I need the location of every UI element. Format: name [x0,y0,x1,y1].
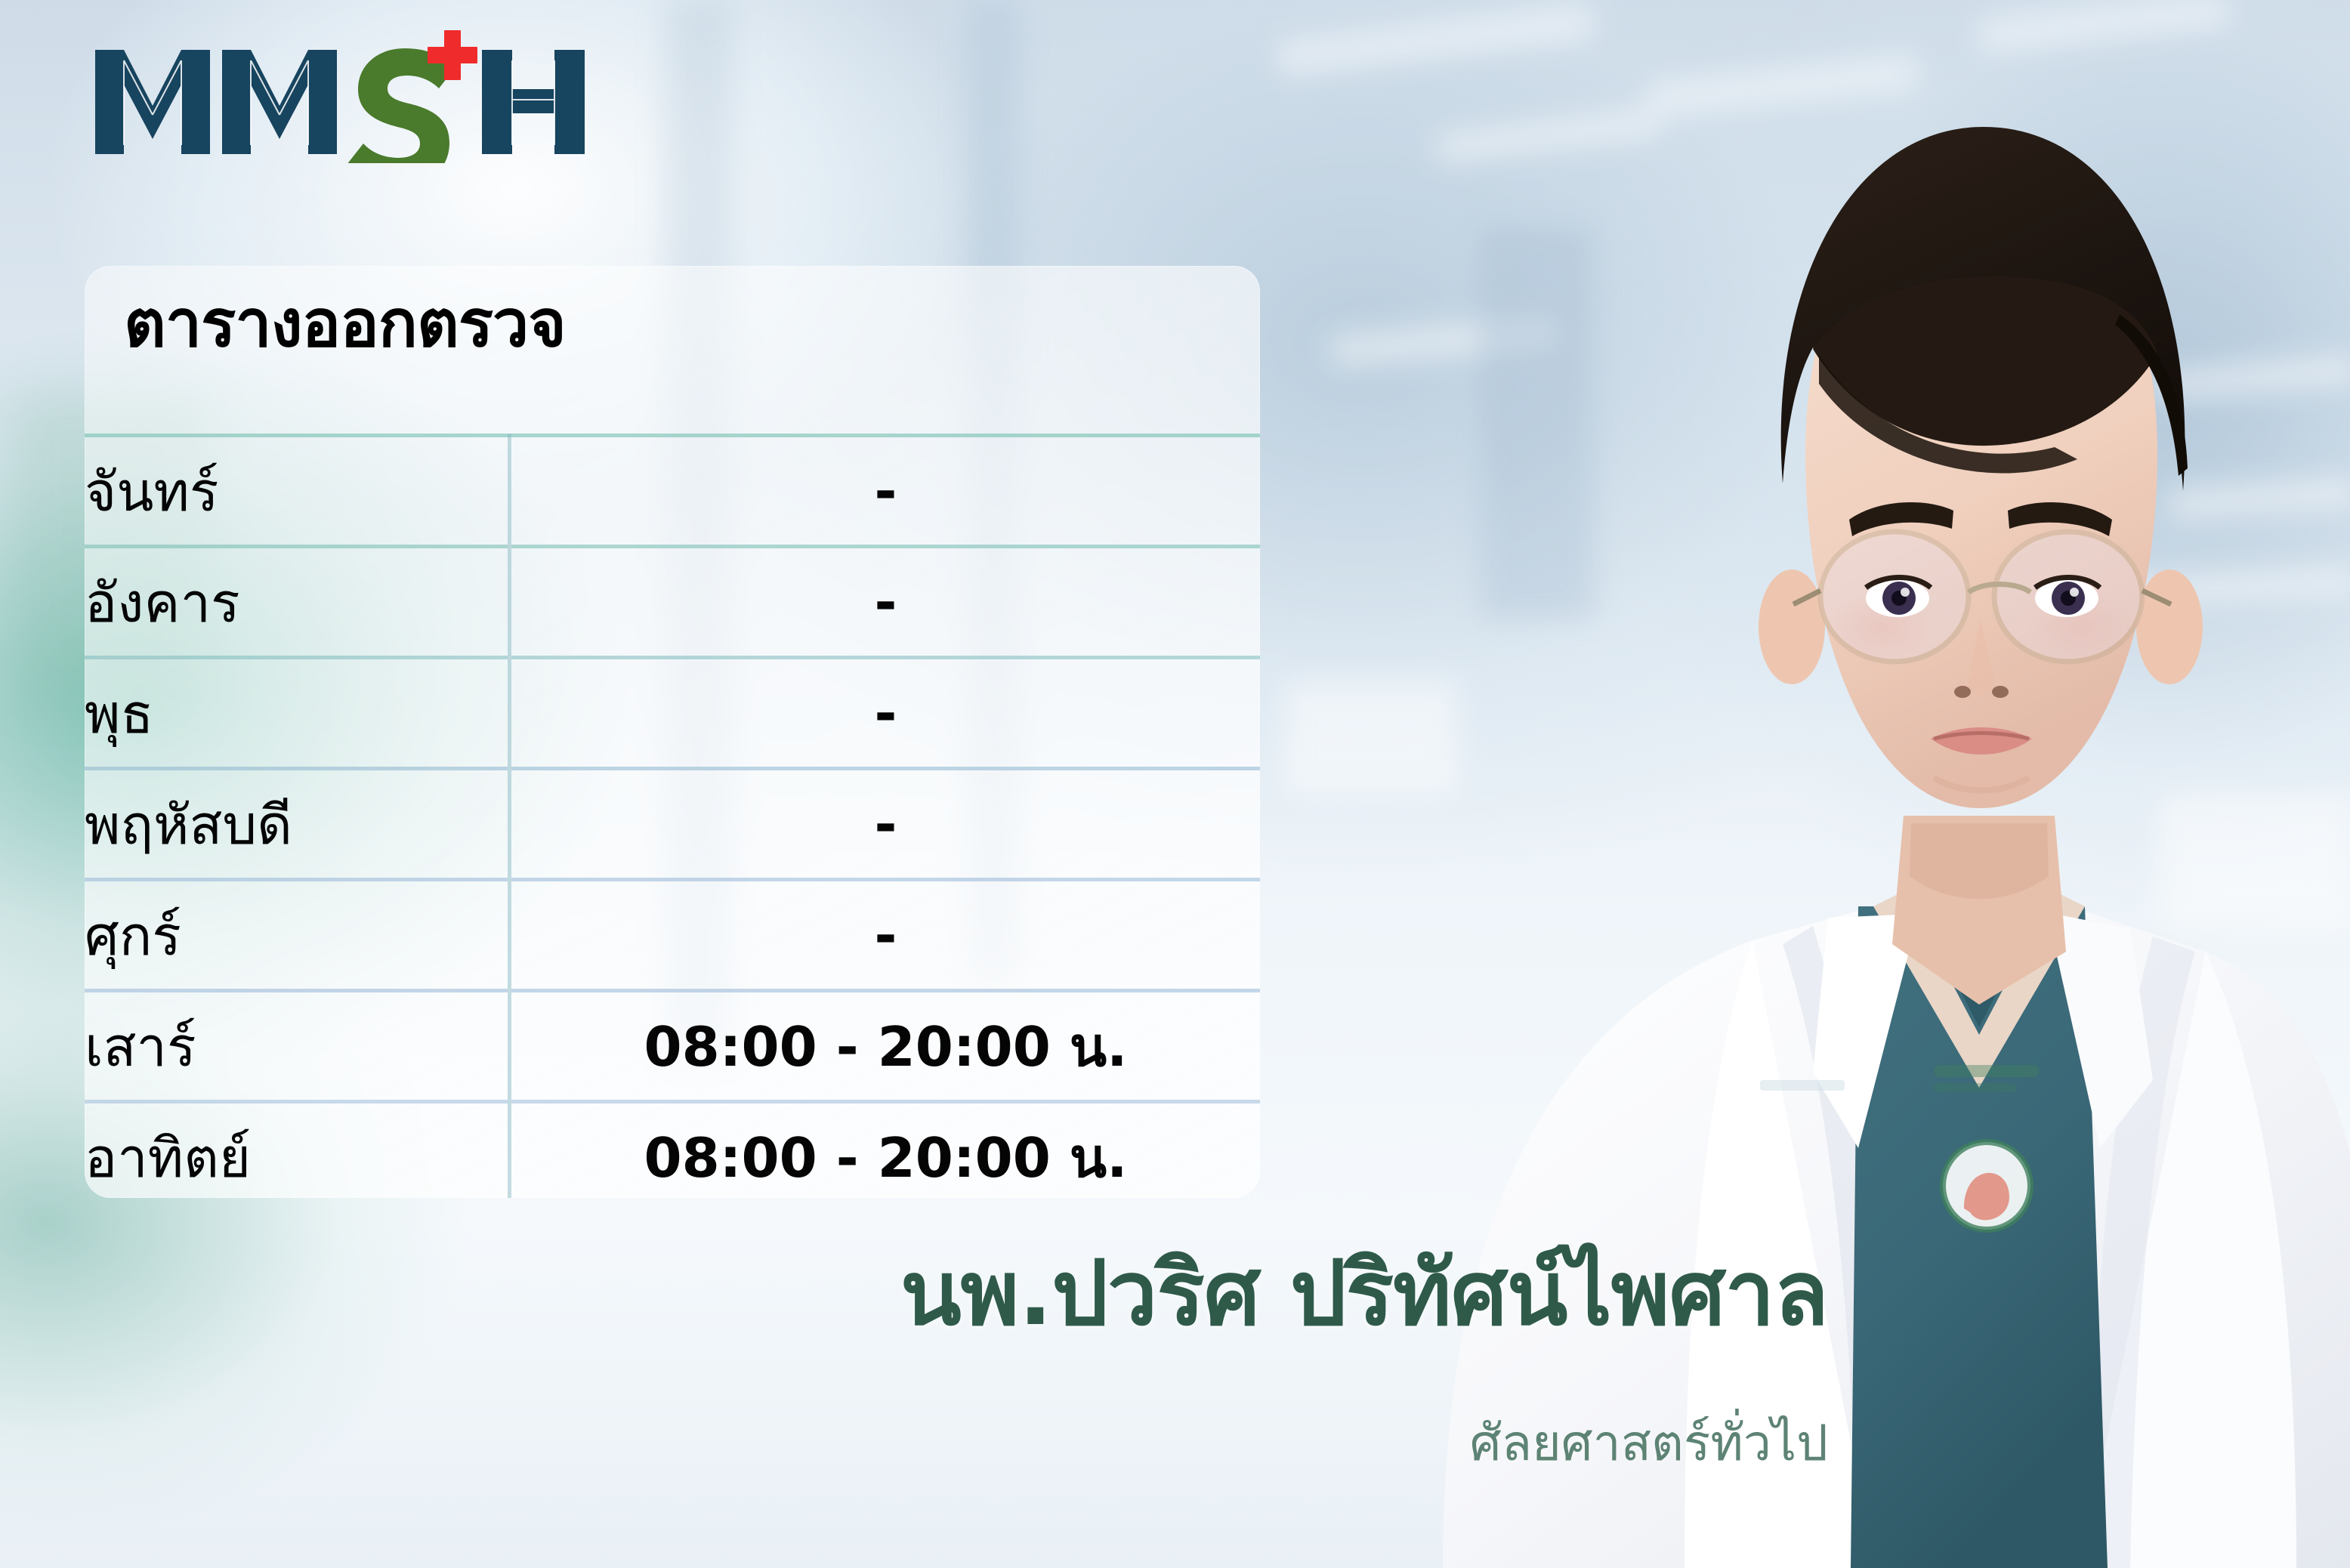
doctor-specialty: ศัลยศาสตร์ทั่วไป [453,1411,1828,1476]
scrub-print-text [1760,1080,1845,1091]
schedule-time-friday: - [510,880,1261,991]
logo-letter-m1 [95,50,210,154]
coat-badge-icon [1943,1142,2030,1230]
schedule-table-body: จันทร์ - อังคาร - พุธ - พฤหัสบดี - ศุกร์ [85,436,1260,1199]
logo-letter-h [482,50,585,154]
table-row: ศุกร์ - [85,880,1260,991]
schedule-table: จันทร์ - อังคาร - พุธ - พฤหัสบดี - ศุกร์ [85,434,1260,1198]
schedule-day-friday: ศุกร์ [85,880,510,991]
schedule-day-thursday: พฤหัสบดี [85,769,510,880]
table-row: พุธ - [85,658,1260,769]
schedule-time-saturday: 08:00 - 20:00 น. [510,991,1261,1102]
table-row: อังคาร - [85,547,1260,658]
logo-letter-m2 [222,50,337,154]
poster-canvas: ตารางออกตรวจ จันทร์ - อังคาร - พุธ - พฤห… [0,0,2350,1568]
table-row: อาทิตย์ 08:00 - 20:00 น. [85,1102,1260,1199]
schedule-day-sunday: อาทิตย์ [85,1102,510,1199]
schedule-day-wednesday: พุธ [85,658,510,769]
schedule-time-sunday: 08:00 - 20:00 น. [510,1102,1261,1199]
mmsh-logo-svg [89,27,633,163]
table-row: พฤหัสบดี - [85,769,1260,880]
schedule-day-tuesday: อังคาร [85,547,510,658]
schedule-time-wednesday: - [510,658,1261,769]
schedule-time-thursday: - [510,769,1261,880]
table-row: เสาร์ 08:00 - 20:00 น. [85,991,1260,1102]
schedule-time-monday: - [510,436,1261,547]
doctor-name: นพ.ปวริศ ปริทัศน์ไพศาล [453,1240,1828,1347]
logo-letter-s [347,48,455,163]
schedule-day-monday: จันทร์ [85,436,510,547]
brand-logo [89,27,633,163]
schedule-card: ตารางออกตรวจ จันทร์ - อังคาร - พุธ - พฤห… [85,266,1260,1198]
table-row: จันทร์ - [85,436,1260,547]
schedule-title: ตารางออกตรวจ [124,287,566,362]
schedule-time-tuesday: - [510,547,1261,658]
schedule-day-saturday: เสาร์ [85,991,510,1102]
